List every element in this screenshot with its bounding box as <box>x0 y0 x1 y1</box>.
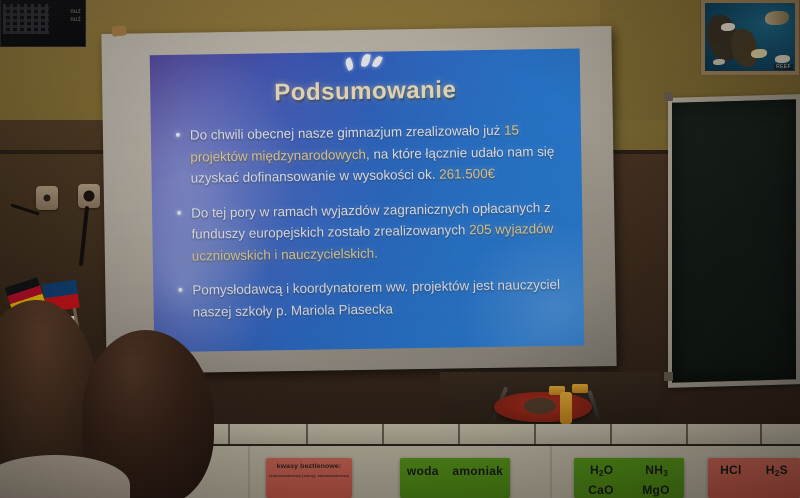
wall-socket <box>36 186 58 210</box>
tile-separator <box>382 424 384 444</box>
formula-cao: CaO <box>588 483 614 497</box>
panel-separator <box>248 446 250 498</box>
aquarium-fish-poster: REEF <box>700 0 800 76</box>
panel-text: nuż nuż <box>70 8 81 24</box>
chalkboard-corner-bracket <box>664 372 673 381</box>
bullet-seg: Do chwili obecnej nasze gimnazjum zreali… <box>190 123 504 143</box>
hose-nozzle-body <box>560 392 572 424</box>
formula-nh3: NH3 <box>645 463 668 478</box>
leaf-decoration-icon <box>344 57 355 71</box>
formula-hcl: HCl <box>720 463 742 477</box>
leaf-decoration-icon <box>372 55 383 69</box>
wall-socket <box>78 184 100 208</box>
green-chalkboard <box>668 94 800 388</box>
dark-wall-panel: nuż nuż <box>0 0 86 47</box>
panel-grid <box>3 4 49 34</box>
bullet-seg-highlight: 261.500€ <box>439 166 495 182</box>
chem-card-formulas-red: HCl H2S <box>708 458 800 498</box>
hose-reel-hub <box>524 398 556 414</box>
fish-icon <box>721 23 735 31</box>
tile-separator <box>534 424 536 444</box>
tile-separator <box>686 424 688 444</box>
card-subtext: chlorowodorowy (solny), siarkowodorowy <box>266 473 352 477</box>
chalkboard-surface <box>672 99 796 382</box>
projection-screen: Podsumowanie Do chwili obecnej nasze gim… <box>101 26 616 374</box>
classroom-presentation-photo: nuż nuż REEF <box>0 0 800 498</box>
tile-separator <box>760 424 762 444</box>
tile-separator <box>228 424 230 444</box>
socket-hole <box>84 191 95 202</box>
card-row: HCl H2S <box>708 463 800 478</box>
socket-hole <box>44 195 51 202</box>
fish-icon <box>775 55 790 63</box>
card-heading: kwasy beztlenowe: <box>266 463 352 469</box>
aquarium-image: REEF <box>705 3 795 71</box>
coral-shape <box>731 29 757 67</box>
slide-bullet-list: Do chwili obecnej nasze gimnazjum zreali… <box>173 119 568 336</box>
chem-card-formulas-green: H2O NH3 CaO MgO <box>574 458 684 498</box>
tile-separator <box>610 424 612 444</box>
chalkboard-corner-bracket <box>664 92 673 101</box>
formula-h2o: H2O <box>590 463 613 478</box>
chem-card-names: woda amoniak <box>400 458 510 498</box>
hose-nozzle <box>572 384 588 393</box>
fish-icon <box>713 59 725 65</box>
leaf-decoration-icon <box>361 53 371 67</box>
screen-mount-bracket <box>112 25 127 36</box>
card-row: woda amoniak <box>400 464 510 478</box>
slide-bullet-1: Do chwili obecnej nasze gimnazjum zreali… <box>173 119 566 190</box>
poster-caption: REEF <box>774 64 793 70</box>
card-row: CaO MgO <box>574 483 684 497</box>
formula-h2s: H2S <box>766 463 788 478</box>
slide-title: Podsumowanie <box>150 75 580 110</box>
formula-mgo: MgO <box>642 483 670 497</box>
chem-card-acids-anoxic: kwasy beztlenowe: chlorowodorowy (solny)… <box>266 458 352 498</box>
card-row: H2O NH3 <box>574 463 684 478</box>
slide-bullet-3: Pomysłodawcą i koordynatorem ww. projekt… <box>175 274 568 323</box>
fish-icon <box>765 11 789 25</box>
presentation-slide: Podsumowanie Do chwili obecnej nasze gim… <box>150 49 585 353</box>
panel-separator <box>550 446 552 498</box>
slide-bullet-2: Do tej pory w ramach wyjazdów zagraniczn… <box>174 196 567 267</box>
card-item: amoniak <box>452 464 503 478</box>
fish-icon <box>751 49 767 58</box>
tile-separator <box>306 424 308 444</box>
tile-separator <box>458 424 460 444</box>
bullet-seg: Pomysłodawcą i koordynatorem ww. projekt… <box>192 277 560 319</box>
card-item: woda <box>407 464 439 478</box>
